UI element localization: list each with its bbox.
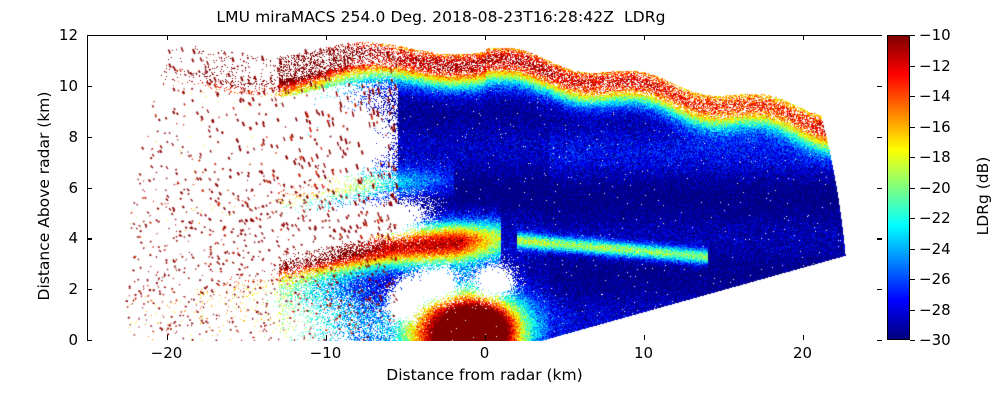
x-axis-tick: [326, 335, 327, 340]
colorbar-tick: [910, 340, 915, 341]
y-axis-tick-label: 12: [59, 26, 78, 44]
colorbar-tick-label: −16: [919, 118, 951, 136]
colorbar-tick: [910, 157, 915, 158]
y-axis-tick-label: 4: [68, 229, 78, 247]
y-axis-tick: [87, 35, 92, 36]
colorbar-tick: [910, 279, 915, 280]
y-axis-tick-label: 6: [68, 179, 78, 197]
y-axis-tick: [877, 289, 882, 290]
colorbar-tick: [910, 218, 915, 219]
x-axis-tick: [167, 35, 168, 40]
x-axis-tick-label: 20: [793, 344, 812, 362]
colorbar-tick: [910, 35, 915, 36]
y-axis-tick: [877, 137, 882, 138]
y-axis-label: Distance Above radar (km): [35, 66, 53, 326]
x-axis-tick: [644, 35, 645, 40]
colorbar-tick: [910, 310, 915, 311]
colorbar-tick-label: −20: [919, 179, 951, 197]
colorbar-tick-label: −12: [919, 57, 951, 75]
y-axis-tick: [877, 35, 882, 36]
colorbar-tick-label: −24: [919, 240, 951, 258]
plot-axes: [87, 35, 882, 340]
y-axis-tick: [87, 188, 92, 189]
y-axis-tick: [87, 340, 92, 341]
page-title: LMU miraMACS 254.0 Deg. 2018-08-23T16:28…: [0, 8, 882, 26]
x-axis-tick: [485, 35, 486, 40]
x-axis-tick: [644, 335, 645, 340]
colorbar: [887, 35, 910, 340]
x-axis-tick: [803, 335, 804, 340]
y-axis-tick: [87, 238, 92, 239]
colorbar-tick: [910, 96, 915, 97]
x-axis-tick: [326, 35, 327, 40]
y-axis-tick: [877, 86, 882, 87]
x-axis-tick-label: −20: [151, 344, 183, 362]
colorbar-tick-label: −14: [919, 87, 951, 105]
radar-rhi-heatmap: [88, 36, 883, 341]
figure-root: LMU miraMACS 254.0 Deg. 2018-08-23T16:28…: [0, 0, 1000, 400]
y-axis-tick: [87, 289, 92, 290]
colorbar-tick: [910, 249, 915, 250]
colorbar-tick-label: −10: [919, 26, 951, 44]
colorbar-tick-label: −22: [919, 209, 951, 227]
y-axis-tick-label: 2: [68, 280, 78, 298]
x-axis-label: Distance from radar (km): [87, 366, 882, 384]
colorbar-tick: [910, 127, 915, 128]
x-axis-tick-label: −10: [310, 344, 342, 362]
y-axis-tick-label: 0: [68, 331, 78, 349]
x-axis-tick-label: 0: [480, 344, 490, 362]
y-axis-tick: [87, 86, 92, 87]
y-axis-tick: [877, 238, 882, 239]
colorbar-gradient: [888, 36, 909, 339]
x-axis-tick-label: 10: [634, 344, 653, 362]
colorbar-tick: [910, 188, 915, 189]
colorbar-tick-label: −30: [919, 331, 951, 349]
colorbar-tick-label: −26: [919, 270, 951, 288]
colorbar-tick-label: −18: [919, 148, 951, 166]
x-axis-tick: [803, 35, 804, 40]
x-axis-tick: [485, 335, 486, 340]
y-axis-tick: [87, 137, 92, 138]
colorbar-tick: [910, 66, 915, 67]
x-axis-tick: [167, 335, 168, 340]
colorbar-label: LDRg (dB): [974, 96, 992, 296]
y-axis-tick: [877, 340, 882, 341]
y-axis-tick: [877, 188, 882, 189]
y-axis-tick-label: 10: [59, 77, 78, 95]
colorbar-tick-label: −28: [919, 301, 951, 319]
y-axis-tick-label: 8: [68, 128, 78, 146]
